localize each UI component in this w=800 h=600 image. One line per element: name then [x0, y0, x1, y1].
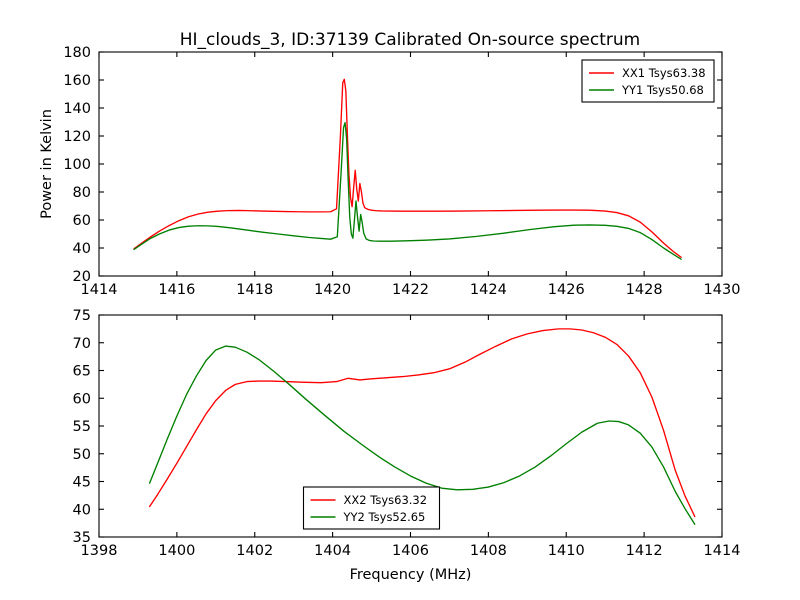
x-tick-label: 1406	[392, 543, 429, 559]
x-tick-label: 1430	[704, 282, 741, 298]
x-tick-label: 1424	[470, 282, 507, 298]
x-tick-label: 1408	[470, 543, 507, 559]
legend-label: YY2 Tsys52.65	[343, 510, 426, 524]
y-tick-label: 40	[73, 241, 91, 257]
spectrum-figure: HI_clouds_3, ID:37139 Calibrated On-sour…	[0, 0, 800, 600]
x-tick-label: 1420	[314, 282, 351, 298]
y-tick-label: 75	[73, 308, 91, 324]
y-tick-label: 120	[63, 129, 91, 145]
legend-label: XX1 Tsys63.38	[622, 66, 706, 80]
y-tick-label: 50	[73, 447, 91, 463]
x-tick-label: 1404	[314, 543, 351, 559]
x-tick-label: 1426	[548, 282, 585, 298]
y-tick-label: 40	[73, 502, 91, 518]
x-axis-label: Frequency (MHz)	[350, 567, 472, 583]
y-axis-label: Power in Kelvin	[39, 109, 55, 219]
y-tick-label: 20	[73, 269, 91, 285]
legend-label: YY1 Tsys50.68	[621, 83, 704, 97]
x-tick-label: 1428	[626, 282, 663, 298]
plot-panel-upper-spectrum: 1414141614181420142214241426142814302040…	[39, 45, 740, 298]
x-tick-label: 1402	[236, 543, 273, 559]
x-tick-label: 1412	[626, 543, 663, 559]
y-tick-label: 140	[63, 101, 91, 117]
series-line-xx1	[134, 79, 681, 257]
y-tick-label: 55	[73, 419, 91, 435]
series-line-yy1	[134, 123, 681, 260]
y-tick-label: 35	[73, 530, 91, 546]
y-tick-label: 180	[63, 45, 91, 61]
legend-upper-spectrum: XX1 Tsys63.38YY1 Tsys50.68	[582, 60, 714, 102]
plot-panel-lower-spectrum: 1398140014021404140614081410141214143540…	[73, 308, 741, 583]
x-tick-label: 1400	[158, 543, 195, 559]
x-tick-label: 1422	[392, 282, 429, 298]
y-tick-label: 65	[73, 364, 91, 380]
x-tick-label: 1418	[236, 282, 273, 298]
y-tick-label: 100	[63, 157, 91, 173]
legend-label: XX2 Tsys63.32	[344, 493, 428, 507]
y-tick-label: 70	[73, 336, 91, 352]
x-tick-label: 1414	[704, 543, 741, 559]
y-tick-label: 80	[73, 185, 91, 201]
x-tick-label: 1416	[158, 282, 195, 298]
legend-lower-spectrum: XX2 Tsys63.32YY2 Tsys52.65	[304, 487, 440, 529]
y-tick-label: 160	[63, 73, 91, 89]
y-tick-label: 60	[73, 213, 91, 229]
y-tick-label: 45	[73, 475, 91, 491]
figure-canvas: HI_clouds_3, ID:37139 Calibrated On-sour…	[0, 0, 800, 600]
page-title: HI_clouds_3, ID:37139 Calibrated On-sour…	[180, 30, 640, 50]
y-tick-label: 60	[73, 391, 91, 407]
x-tick-label: 1410	[548, 543, 585, 559]
